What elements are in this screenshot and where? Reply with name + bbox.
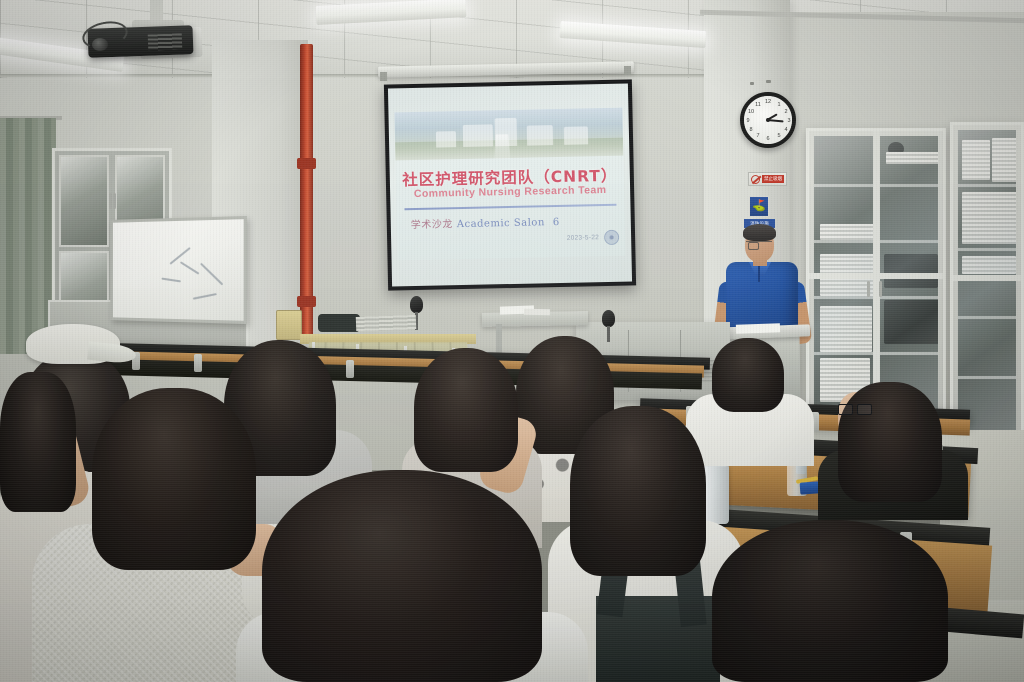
student-foreground-right-head xyxy=(712,520,948,682)
clock-numeral: 5 xyxy=(775,133,783,139)
clock-numeral: 1 xyxy=(775,102,783,108)
bench-bracket xyxy=(346,360,354,378)
clock-numeral: 10 xyxy=(747,109,755,115)
wall-screw xyxy=(766,80,771,83)
presenter-glasses-icon xyxy=(746,241,772,248)
projector-vent xyxy=(148,33,183,50)
pipe-joint xyxy=(297,158,316,169)
wall-clock: 12 1 2 3 4 5 6 7 8 9 10 11 xyxy=(740,92,796,148)
student-foreground-center-head xyxy=(262,470,542,682)
desk-leg xyxy=(496,324,502,354)
fire-extinguisher-icon: ⛳ xyxy=(752,201,766,212)
no-smoking-label: 禁止吸烟 xyxy=(762,175,784,183)
presenter-hair xyxy=(743,224,776,241)
clock-numeral: 2 xyxy=(782,109,790,115)
bench-bracket xyxy=(194,354,202,372)
desk-papers xyxy=(524,309,550,315)
stacked-chair xyxy=(276,310,302,340)
wall-screw xyxy=(750,82,754,85)
pipe-joint xyxy=(297,296,316,307)
presentation-slide: 社区护理研究团队（CNRT） Community Nursing Researc… xyxy=(394,108,625,261)
projection-screen[interactable]: 社区护理研究团队（CNRT） Community Nursing Researc… xyxy=(384,79,636,290)
slide-logo-icon: ✹ xyxy=(604,230,619,245)
no-smoking-sign: 禁止吸烟 xyxy=(748,172,787,186)
slide-subtitle-number: 6 xyxy=(553,217,560,228)
student-white-shirt-male-head xyxy=(712,338,784,412)
clock-numeral: 11 xyxy=(754,102,762,108)
stacked-papers xyxy=(356,315,416,331)
screen-canvas: 社区护理研究团队（CNRT） Community Nursing Researc… xyxy=(388,84,632,287)
projector-lens-icon xyxy=(92,38,108,51)
slide-subtitle: 学术沙龙Academic Salon6 xyxy=(411,211,626,231)
slide-subtitle-chinese: 学术沙龙 xyxy=(411,219,453,231)
no-smoking-icon xyxy=(751,175,760,184)
presenter-placket xyxy=(758,266,760,282)
screen-bracket xyxy=(624,66,631,75)
thermos-flask xyxy=(703,462,729,524)
student-center-head xyxy=(414,348,518,472)
student-overalls-head xyxy=(570,406,706,576)
slide-subtitle-english: Academic Salon xyxy=(457,217,545,230)
eyeglasses-icon xyxy=(838,404,872,415)
lectern-papers xyxy=(736,323,780,334)
clock-numeral: 8 xyxy=(747,127,755,133)
clock-center-pin xyxy=(766,118,770,122)
screen-bracket xyxy=(380,72,387,81)
clock-numeral: 4 xyxy=(782,127,790,133)
slide-banner-image xyxy=(394,108,623,161)
clock-numeral: 7 xyxy=(754,133,762,139)
slide-date: 2023-5-22 xyxy=(567,234,599,242)
student-with-glasses-head xyxy=(838,382,942,502)
clock-numeral: 9 xyxy=(744,118,752,124)
whiteboard[interactable] xyxy=(110,216,247,324)
student-knit-sweater-head xyxy=(92,388,256,570)
slide-divider-rule xyxy=(404,204,616,210)
glass-cabinet-right-b[interactable] xyxy=(950,122,1024,442)
clock-numeral: 6 xyxy=(764,136,772,142)
bag-on-desk xyxy=(318,314,360,332)
clock-numeral: 12 xyxy=(764,99,772,105)
student-far-left-head xyxy=(0,372,76,512)
classroom-photo-scene: 社区护理研究团队（CNRT） Community Nursing Researc… xyxy=(0,0,1024,682)
fire-equipment-sign: ⛳ xyxy=(749,196,769,217)
clock-numeral: 3 xyxy=(785,118,793,124)
